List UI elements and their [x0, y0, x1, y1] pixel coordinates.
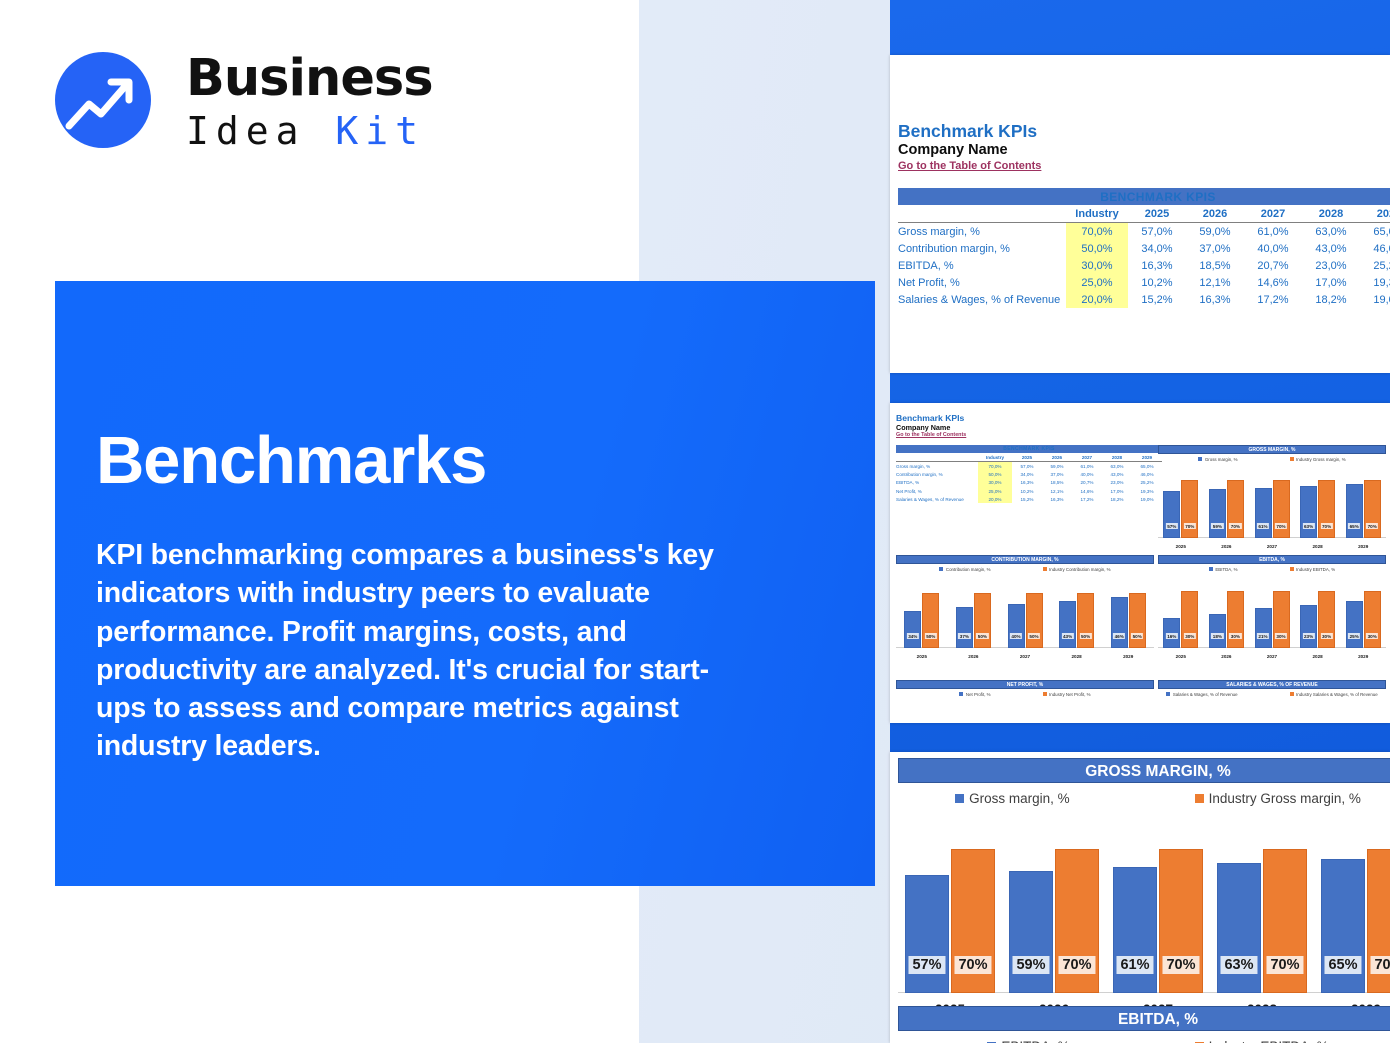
- legend-item-series1: Contribution margin, %: [939, 567, 990, 572]
- chart-data-label: 30%: [1229, 633, 1241, 639]
- year-value: 14,6%: [1072, 487, 1102, 495]
- legend-swatch-blue: [1198, 457, 1202, 461]
- chart-bar-blue: 16%: [1163, 618, 1180, 648]
- legend-swatch-blue: [1166, 692, 1170, 696]
- chart-data-label: 43%: [1061, 633, 1073, 639]
- year-value: 10,2%: [1012, 487, 1042, 495]
- column-header: Industry: [978, 453, 1012, 462]
- legend-swatch-orange: [1290, 457, 1294, 461]
- chart-plot-area: 57%70%202559%70%202661%70%202763%70%2028…: [1158, 464, 1386, 538]
- chart-title: SALARIES & WAGES, % OF REVENUE: [1158, 680, 1386, 689]
- chart-bar-group: 34%50%: [904, 593, 939, 648]
- table-row: Contribution margin, %50,0%34,0%37,0%40,…: [898, 240, 1390, 257]
- chart-legend: Gross margin, % Industry Gross margin, %: [1158, 454, 1386, 464]
- chart-bar-blue: 21%: [1255, 608, 1272, 648]
- chart-bar-group: 43%50%: [1059, 593, 1094, 648]
- year-value: 57,0%: [1012, 462, 1042, 471]
- row-label: Net Profit, %: [898, 274, 1066, 291]
- chart-title: EBITDA, %: [1158, 555, 1386, 564]
- year-value: 17,0%: [1102, 487, 1132, 495]
- legend-item-series2: Industry Gross margin, %: [1195, 791, 1361, 806]
- chart-bar-orange: 30%: [1181, 591, 1198, 648]
- chart-bar-orange: 70%: [1181, 480, 1198, 538]
- chart-data-label: 30%: [1275, 633, 1287, 639]
- column-header: 2028: [1102, 453, 1132, 462]
- year-value: 57,0%: [1128, 223, 1186, 241]
- industry-value: 30,0%: [978, 479, 1012, 487]
- chart-ebitda-mini[interactable]: EBITDA, % EBITDA, % Industry EBITDA, % 1…: [1158, 555, 1386, 648]
- chart-bar-orange: 50%: [1077, 593, 1094, 648]
- year-value: 23,0%: [1102, 479, 1132, 487]
- chart-data-label: 50%: [976, 633, 988, 639]
- chart-bar-blue: 25%: [1346, 601, 1363, 648]
- chart-bar-group: 59%70%: [1009, 849, 1099, 993]
- year-value: 20,7%: [1244, 257, 1302, 274]
- chart-x-tick: 2029: [1340, 654, 1386, 659]
- chart-data-label: 23%: [1302, 633, 1314, 639]
- chart-gross-margin-large[interactable]: GROSS MARGIN, % Gross margin, % Industry…: [898, 758, 1390, 993]
- chart-x-tick: 2028: [1295, 654, 1341, 659]
- chart-data-label: 57%: [1166, 523, 1178, 529]
- chart-bar-orange: 50%: [922, 593, 939, 648]
- year-value: 18,2%: [1302, 291, 1360, 308]
- chart-bar-group: 23%30%: [1300, 591, 1335, 648]
- table-banner: BENCHMARK KPIS: [898, 188, 1390, 205]
- table-row: Contribution margin, %50,0%34,0%37,0%40,…: [896, 471, 1162, 479]
- chart-data-label: 50%: [1028, 633, 1040, 639]
- header-cell-blank: [898, 205, 1066, 223]
- chart-net-profit-mini[interactable]: NET PROFIT, % Net Profit, % Industry Net…: [896, 680, 1154, 699]
- legend-item-series1: Net Profit, %: [959, 692, 990, 697]
- row-label: EBITDA, %: [898, 257, 1066, 274]
- chart-bar-orange: 30%: [1364, 591, 1381, 648]
- year-value: 59,0%: [1042, 462, 1072, 471]
- chart-data-label: 65%: [1324, 956, 1361, 974]
- table-banner-row: BENCHMARK KPIS: [898, 188, 1390, 205]
- year-value: 37,0%: [1186, 240, 1244, 257]
- year-value: 17,0%: [1302, 274, 1360, 291]
- table-of-contents-link[interactable]: Go to the Table of Contents: [896, 432, 966, 439]
- row-label: Salaries & Wages, % of Revenue: [898, 291, 1066, 308]
- year-value: 18,2%: [1102, 495, 1132, 503]
- chart-title: NET PROFIT, %: [896, 680, 1154, 689]
- year-value: 65,0%: [1360, 223, 1390, 241]
- benchmark-kpi-table: BENCHMARK KPISIndustry202520262027202820…: [896, 445, 1162, 503]
- year-value: 16,3%: [1042, 495, 1072, 503]
- chart-bar-blue: 59%: [1009, 871, 1053, 993]
- chart-data-label: 70%: [1320, 523, 1332, 529]
- chart-bar-group: 61%70%: [1255, 480, 1290, 538]
- year-value: 16,3%: [1012, 479, 1042, 487]
- chart-data-label: 18%: [1211, 633, 1223, 639]
- industry-value: 25,0%: [1066, 274, 1128, 291]
- chart-data-label: 57%: [908, 956, 945, 974]
- table-header-row: Industry20252026202720282029: [896, 453, 1162, 462]
- industry-value: 25,0%: [978, 487, 1012, 495]
- chart-bar-blue: 63%: [1217, 863, 1261, 993]
- legend-swatch-blue: [939, 567, 943, 571]
- chart-title: EBITDA, %: [898, 1006, 1390, 1031]
- chart-data-label: 70%: [1266, 956, 1303, 974]
- chart-data-label: 30%: [1366, 633, 1378, 639]
- year-value: 17,2%: [1072, 495, 1102, 503]
- chart-bar-blue: 59%: [1209, 489, 1226, 538]
- chart-bar-blue: 43%: [1059, 601, 1076, 648]
- chart-bar-blue: 34%: [904, 611, 921, 648]
- year-value: 63,0%: [1302, 223, 1360, 241]
- column-header: 2026: [1042, 453, 1072, 462]
- column-header: 2029: [1360, 205, 1390, 223]
- year-value: 34,0%: [1128, 240, 1186, 257]
- chart-legend: Gross margin, % Industry Gross margin, %: [898, 783, 1390, 813]
- header-cell-blank: [896, 453, 978, 462]
- column-header: 2027: [1244, 205, 1302, 223]
- chart-plot-area: 57%70%202559%70%202661%70%202763%70%2028…: [898, 813, 1390, 993]
- chart-bar-blue: 46%: [1111, 597, 1128, 648]
- row-label: Salaries & Wages, % of Revenue: [896, 495, 978, 503]
- chart-bar-group: 25%30%: [1346, 591, 1381, 648]
- table-row: Gross margin, %70,0%57,0%59,0%61,0%63,0%…: [896, 462, 1162, 471]
- table-row: Salaries & Wages, % of Revenue20,0%15,2%…: [898, 291, 1390, 308]
- year-value: 20,7%: [1072, 479, 1102, 487]
- row-label: Contribution margin, %: [898, 240, 1066, 257]
- chart-bar-group: 63%70%: [1217, 849, 1307, 993]
- chart-data-label: 50%: [1131, 633, 1143, 639]
- chart-bar-orange: 70%: [1318, 480, 1335, 538]
- chart-bar-orange: 30%: [1273, 591, 1290, 648]
- chart-x-tick: 2028: [1295, 544, 1341, 549]
- year-value: 23,0%: [1302, 257, 1360, 274]
- chart-x-tick: 2025: [896, 654, 948, 659]
- year-value: 40,0%: [1072, 471, 1102, 479]
- chart-data-label: 63%: [1220, 956, 1257, 974]
- chart-data-label: 61%: [1257, 523, 1269, 529]
- sheet-title: Benchmark KPIs: [898, 121, 1041, 141]
- chart-data-label: 40%: [1010, 633, 1022, 639]
- year-value: 12,1%: [1042, 487, 1072, 495]
- table-of-contents-link[interactable]: Go to the Table of Contents: [898, 159, 1041, 174]
- chart-bar-orange: 70%: [1367, 849, 1390, 993]
- column-header: Industry: [1066, 205, 1128, 223]
- chart-bar-blue: 63%: [1300, 486, 1317, 538]
- row-label: Gross margin, %: [896, 462, 978, 471]
- chart-bar-blue: 65%: [1321, 859, 1365, 993]
- chart-bar-orange: 50%: [1129, 593, 1146, 648]
- row-label: EBITDA, %: [896, 479, 978, 487]
- chart-contribution-margin-mini[interactable]: CONTRIBUTION MARGIN, % Contribution marg…: [896, 555, 1154, 648]
- chart-bar-orange: 70%: [1159, 849, 1203, 993]
- industry-value: 50,0%: [1066, 240, 1128, 257]
- chart-legend: EBITDA, % Industry EBITDA, %: [1158, 564, 1386, 574]
- legend-swatch-blue: [1209, 567, 1213, 571]
- legend-item-series2: Industry EBITDA, %: [1290, 567, 1336, 572]
- year-value: 34,0%: [1012, 471, 1042, 479]
- chart-data-label: 70%: [1184, 523, 1196, 529]
- chart-bar-orange: 70%: [1227, 480, 1244, 538]
- legend-item-series2: Industry Net Profit, %: [1043, 692, 1091, 697]
- chart-x-tick: 2025: [1158, 654, 1204, 659]
- hero-description: KPI benchmarking compares a business's k…: [96, 536, 756, 766]
- spreadsheet-preview-top[interactable]: Benchmark KPIs Company Name Go to the Ta…: [890, 55, 1390, 373]
- chart-data-label: 34%: [907, 633, 919, 639]
- year-value: 16,3%: [1186, 291, 1244, 308]
- chart-bar-group: 57%70%: [1163, 480, 1198, 538]
- benchmark-kpi-table: BENCHMARK KPISIndustry202520262027202820…: [898, 188, 1390, 308]
- chart-bar-orange: 30%: [1227, 591, 1244, 648]
- chart-bar-blue: 40%: [1008, 604, 1025, 648]
- chart-bar-blue: 57%: [1163, 491, 1180, 538]
- chart-bar-group: 46%50%: [1111, 593, 1146, 648]
- chart-x-tick: 2027: [1249, 544, 1295, 549]
- hero-panel: Benchmarks KPI benchmarking compares a b…: [55, 281, 875, 886]
- chart-bar-blue: 37%: [956, 607, 973, 648]
- sheet-header: Benchmark KPIs Company Name Go to the Ta…: [896, 413, 966, 439]
- table-row: Net Profit, %25,0%10,2%12,1%14,6%17,0%19…: [898, 274, 1390, 291]
- chart-data-label: 50%: [925, 633, 937, 639]
- chart-bar-group: 65%70%: [1346, 480, 1381, 538]
- year-value: 15,2%: [1128, 291, 1186, 308]
- chart-bar-orange: 50%: [974, 593, 991, 648]
- chart-bar-blue: 23%: [1300, 605, 1317, 648]
- chart-data-label: 70%: [1275, 523, 1287, 529]
- chart-gross-margin-mini[interactable]: GROSS MARGIN, % Gross margin, % Industry…: [1158, 445, 1386, 538]
- chart-bar-orange: 70%: [1364, 480, 1381, 538]
- year-value: 16,3%: [1128, 257, 1186, 274]
- chart-bar-group: 63%70%: [1300, 480, 1335, 538]
- year-value: 17,2%: [1244, 291, 1302, 308]
- chart-data-label: 25%: [1348, 633, 1360, 639]
- chart-data-label: 70%: [954, 956, 991, 974]
- row-label: Gross margin, %: [898, 223, 1066, 241]
- chart-data-label: 70%: [1229, 523, 1241, 529]
- chart-bar-orange: 70%: [951, 849, 995, 993]
- year-value: 12,1%: [1186, 274, 1244, 291]
- chart-bar-group: 61%70%: [1113, 849, 1203, 993]
- chart-title: GROSS MARGIN, %: [1158, 445, 1386, 454]
- chart-bar-orange: 70%: [1273, 480, 1290, 538]
- column-header: 2028: [1302, 205, 1360, 223]
- chart-bar-orange: 30%: [1318, 591, 1335, 648]
- chart-bar-blue: 61%: [1255, 488, 1272, 538]
- chart-bar-group: 59%70%: [1209, 480, 1244, 538]
- chart-bar-blue: 65%: [1346, 484, 1363, 538]
- chart-data-label: 30%: [1184, 633, 1196, 639]
- sheet-subtitle: Company Name: [896, 423, 966, 432]
- row-label: Contribution margin, %: [896, 471, 978, 479]
- chart-x-tick: 2026: [1204, 654, 1250, 659]
- column-header: 2026: [1186, 205, 1244, 223]
- chart-data-label: 70%: [1162, 956, 1199, 974]
- industry-value: 30,0%: [1066, 257, 1128, 274]
- year-value: 40,0%: [1244, 240, 1302, 257]
- table-header-row: Industry20252026202720282029: [898, 205, 1390, 223]
- industry-value: 20,0%: [978, 495, 1012, 503]
- column-header: 2025: [1128, 205, 1186, 223]
- industry-value: 20,0%: [1066, 291, 1128, 308]
- chart-bar-group: 37%50%: [956, 593, 991, 648]
- logo-line-idea-kit: Idea Kit: [186, 108, 433, 154]
- chart-bar-group: 16%30%: [1163, 591, 1198, 648]
- table-body: BENCHMARK KPISIndustry202520262027202820…: [896, 445, 1162, 503]
- legend-item-series1: EBITDA, %: [1209, 567, 1238, 572]
- legend-item-series1: Gross margin, %: [1198, 457, 1237, 462]
- table-row: Gross margin, %70,0%57,0%59,0%61,0%63,0%…: [898, 223, 1390, 241]
- column-header: 2027: [1072, 453, 1102, 462]
- year-value: 59,0%: [1186, 223, 1244, 241]
- industry-value: 70,0%: [978, 462, 1012, 471]
- chart-legend: EBITDA, % Industry EBITDA, %: [898, 1031, 1390, 1043]
- industry-value: 70,0%: [1066, 223, 1128, 241]
- legend-item-series1: Salaries & Wages, % of Revenue: [1166, 692, 1237, 697]
- year-value: 10,2%: [1128, 274, 1186, 291]
- legend-item-series2: Industry Salaries & Wages, % of Revenue: [1290, 692, 1378, 697]
- chart-x-tick: 2028: [1051, 654, 1103, 659]
- chart-data-label: 59%: [1012, 956, 1049, 974]
- chart-ebitda-large[interactable]: EBITDA, % EBITDA, % Industry EBITDA, %: [898, 1006, 1390, 1043]
- chart-salaries-wages-mini[interactable]: SALARIES & WAGES, % OF REVENUE Salaries …: [1158, 680, 1386, 699]
- legend-swatch-blue: [959, 692, 963, 696]
- chart-data-label: 70%: [1366, 523, 1378, 529]
- industry-value: 50,0%: [978, 471, 1012, 479]
- year-value: 18,5%: [1186, 257, 1244, 274]
- chart-title: CONTRIBUTION MARGIN, %: [896, 555, 1154, 564]
- legend-swatch-orange: [1290, 692, 1294, 696]
- chart-data-label: 61%: [1116, 956, 1153, 974]
- table-row: Salaries & Wages, % of Revenue20,0%15,2%…: [896, 495, 1162, 503]
- chart-bar-group: 57%70%: [905, 849, 995, 993]
- chart-legend: Salaries & Wages, % of Revenue Industry …: [1158, 689, 1386, 699]
- chart-data-label: 63%: [1302, 523, 1314, 529]
- column-header: 2025: [1012, 453, 1042, 462]
- year-value: 18,5%: [1042, 479, 1072, 487]
- sheet-header: Benchmark KPIs Company Name Go to the Ta…: [898, 121, 1041, 174]
- chart-x-tick: 2029: [1102, 654, 1154, 659]
- chart-bar-orange: 70%: [1055, 849, 1099, 993]
- chart-data-label: 70%: [1370, 956, 1390, 974]
- year-value: 43,0%: [1302, 240, 1360, 257]
- chart-data-label: 46%: [1113, 633, 1125, 639]
- legend-swatch-orange: [1043, 692, 1047, 696]
- year-value: 61,0%: [1072, 462, 1102, 471]
- year-value: 37,0%: [1042, 471, 1072, 479]
- legend-swatch-orange: [1043, 567, 1047, 571]
- year-value: 63,0%: [1102, 462, 1132, 471]
- table-row: EBITDA, %30,0%16,3%18,5%20,7%23,0%25,2%: [896, 479, 1162, 487]
- chart-bar-blue: 18%: [1209, 614, 1226, 648]
- year-value: 43,0%: [1102, 471, 1132, 479]
- logo-line-business: Business: [186, 50, 433, 108]
- chart-data-label: 50%: [1079, 633, 1091, 639]
- brand-logo: Business Idea Kit: [55, 50, 455, 165]
- legend-swatch-orange: [1195, 794, 1204, 803]
- legend-item-series2: Industry Contribution margin, %: [1043, 567, 1111, 572]
- chart-x-tick: 2026: [948, 654, 1000, 659]
- year-value: 46,0%: [1360, 240, 1390, 257]
- legend-swatch-orange: [1290, 567, 1294, 571]
- year-value: 61,0%: [1244, 223, 1302, 241]
- chart-bar-blue: 61%: [1113, 867, 1157, 993]
- legend-swatch-blue: [955, 794, 964, 803]
- chart-title: GROSS MARGIN, %: [898, 758, 1390, 783]
- chart-data-label: 37%: [958, 633, 970, 639]
- logo-word-kit: Kit: [335, 109, 425, 153]
- chart-bar-group: 21%30%: [1255, 591, 1290, 648]
- chart-x-tick: 2026: [1204, 544, 1250, 549]
- chart-data-label: 70%: [1058, 956, 1095, 974]
- table-row: EBITDA, %30,0%16,3%18,5%20,7%23,0%25,2%: [898, 257, 1390, 274]
- chart-x-tick: 2027: [999, 654, 1051, 659]
- chart-plot-area: 16%30%202518%30%202621%30%202723%30%2028…: [1158, 574, 1386, 648]
- chart-bar-group: 65%70%: [1321, 849, 1390, 993]
- chart-data-label: 30%: [1320, 633, 1332, 639]
- year-value: 19,3%: [1360, 274, 1390, 291]
- chart-bar-group: 40%50%: [1008, 593, 1043, 648]
- chart-x-tick: 2025: [1158, 544, 1204, 549]
- legend-item-series2: Industry Gross margin, %: [1290, 457, 1346, 462]
- chart-legend: Contribution margin, % Industry Contribu…: [896, 564, 1154, 574]
- chart-bar-group: 18%30%: [1209, 591, 1244, 648]
- year-value: 19,0%: [1360, 291, 1390, 308]
- chart-data-label: 21%: [1257, 633, 1269, 639]
- row-label: Net Profit, %: [896, 487, 978, 495]
- chart-data-label: 65%: [1348, 523, 1360, 529]
- chart-bar-blue: 57%: [905, 875, 949, 993]
- chart-bar-orange: 50%: [1026, 593, 1043, 648]
- table-banner: BENCHMARK KPIS: [896, 445, 1162, 453]
- chart-x-tick: 2029: [1340, 544, 1386, 549]
- year-value: 15,2%: [1012, 495, 1042, 503]
- year-value: 25,2%: [1360, 257, 1390, 274]
- page-title: Benchmarks: [96, 425, 486, 497]
- spreadsheet-preview-bottom[interactable]: GROSS MARGIN, % Gross margin, % Industry…: [890, 752, 1390, 1043]
- year-value: 14,6%: [1244, 274, 1302, 291]
- table-row: Net Profit, %25,0%10,2%12,1%14,6%17,0%19…: [896, 487, 1162, 495]
- table-body: BENCHMARK KPISIndustry202520262027202820…: [898, 188, 1390, 308]
- legend-item-series1: EBITDA, %: [987, 1039, 1069, 1043]
- chart-data-label: 59%: [1211, 523, 1223, 529]
- chart-legend: Net Profit, % Industry Net Profit, %: [896, 689, 1154, 699]
- sheet-title: Benchmark KPIs: [896, 413, 966, 423]
- spreadsheet-preview-middle[interactable]: Benchmark KPIs Company Name Go to the Ta…: [890, 403, 1390, 723]
- legend-item-series2: Industry EBITDA, %: [1195, 1039, 1329, 1043]
- legend-item-series1: Gross margin, %: [955, 791, 1070, 806]
- table-banner-row: BENCHMARK KPIS: [896, 445, 1162, 453]
- chart-x-tick: 2027: [1249, 654, 1295, 659]
- sheet-subtitle: Company Name: [898, 141, 1041, 159]
- chart-bar-orange: 70%: [1263, 849, 1307, 993]
- logo-word-idea: Idea: [186, 109, 335, 153]
- chart-data-label: 16%: [1166, 633, 1178, 639]
- chart-plot-area: 34%50%202537%50%202640%50%202743%50%2028…: [896, 574, 1154, 648]
- growth-arrow-icon: [55, 52, 151, 148]
